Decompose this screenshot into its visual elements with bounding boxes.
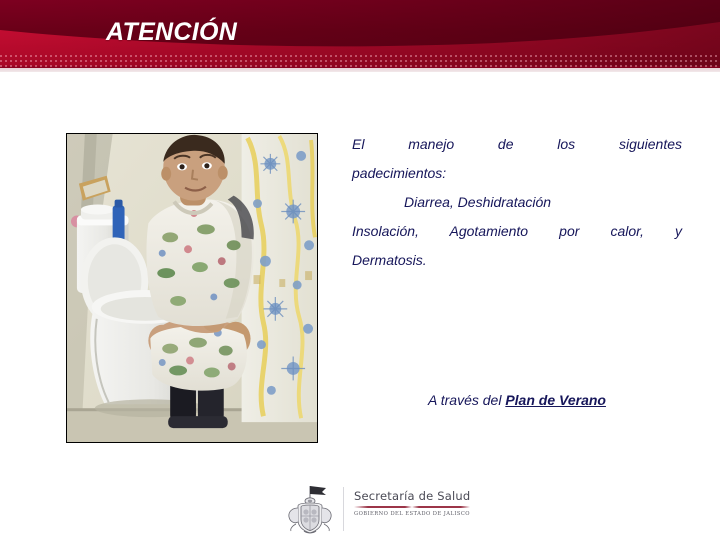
content-photo bbox=[66, 133, 318, 443]
page-title: ATENCIÓN bbox=[106, 18, 237, 47]
tagline: A través del Plan de Verano bbox=[352, 392, 682, 408]
footer-logo: Secretaría de Salud GOBIERNO DEL ESTADO … bbox=[282, 483, 472, 535]
logo-rule bbox=[354, 506, 470, 508]
logo-divider bbox=[343, 487, 344, 531]
body-line-1: El manejo de los siguientes bbox=[352, 130, 682, 159]
banner-drop-shadow bbox=[0, 67, 720, 72]
body-line-4: Insolación, Agotamiento por calor, y bbox=[352, 217, 682, 246]
body-line-2: padecimientos: bbox=[352, 159, 682, 188]
logo-text-block: Secretaría de Salud GOBIERNO DEL ESTADO … bbox=[354, 489, 472, 517]
header-banner: ATENCIÓN bbox=[0, 0, 720, 72]
logo-subtitle: GOBIERNO DEL ESTADO DE JALISCO bbox=[354, 511, 472, 517]
logo-title: Secretaría de Salud bbox=[354, 489, 472, 503]
tagline-prefix: A través del bbox=[428, 392, 505, 408]
photo-illustration bbox=[67, 134, 317, 442]
body-line-3: Diarrea, Deshidratación bbox=[352, 188, 682, 217]
tagline-emphasis: Plan de Verano bbox=[505, 392, 606, 408]
body-line-5: Dermatosis. bbox=[352, 246, 682, 275]
body-text-block: El manejo de los siguientes padecimiento… bbox=[352, 130, 682, 275]
slide-canvas: ATENCIÓN bbox=[0, 0, 720, 540]
jalisco-coat-of-arms-icon bbox=[282, 483, 338, 535]
